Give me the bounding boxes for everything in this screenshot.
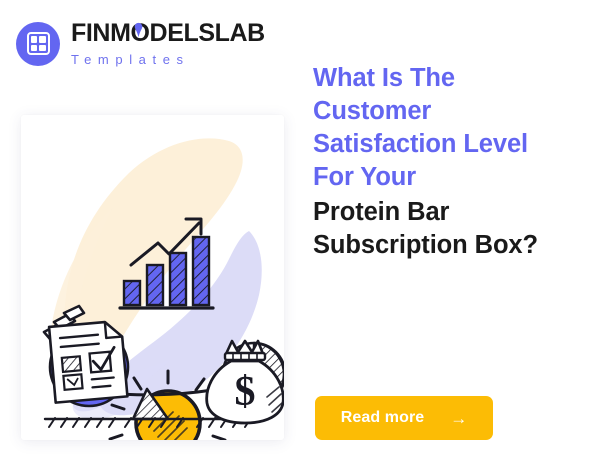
- page-subtitle: Protein Bar Subscription Box?: [313, 196, 588, 262]
- grid-squares-icon: [16, 22, 60, 66]
- document-checklist-icon: [49, 321, 127, 403]
- brand-wordmark: FINMODELSLAB: [71, 21, 265, 46]
- headline-line-1: What Is The: [313, 62, 588, 95]
- grid-cell: [39, 45, 46, 52]
- logo-text: FINMODELSLAB Templates: [71, 21, 265, 66]
- read-more-button[interactable]: Read more →: [315, 396, 493, 440]
- brand-logo[interactable]: FINMODELSLAB Templates: [16, 21, 265, 66]
- headline-line-4: For Your: [313, 161, 588, 194]
- business-analytics-illustration: $: [21, 115, 284, 440]
- promo-banner: FINMODELSLAB Templates: [0, 0, 600, 464]
- read-more-label: Read more: [341, 410, 425, 426]
- grid-cell: [39, 36, 46, 43]
- subheadline-line-2: Subscription Box?: [313, 229, 588, 262]
- page-title: What Is The Customer Satisfaction Level …: [313, 62, 588, 195]
- grid-cell: [31, 36, 38, 43]
- wordmark-pre: FINM: [71, 19, 131, 47]
- headline-line-2: Customer: [313, 95, 588, 128]
- money-symbol: $: [235, 369, 256, 415]
- grid-box: [27, 32, 50, 55]
- arrow-right-icon: →: [450, 410, 467, 427]
- location-pin-icon: [134, 22, 143, 38]
- wordmark-post: DELSLAB: [150, 19, 265, 47]
- brand-tagline: Templates: [71, 53, 265, 66]
- grid-cell: [31, 45, 38, 52]
- subheadline-line-1: Protein Bar: [313, 196, 588, 229]
- headline-line-3: Satisfaction Level: [313, 128, 588, 161]
